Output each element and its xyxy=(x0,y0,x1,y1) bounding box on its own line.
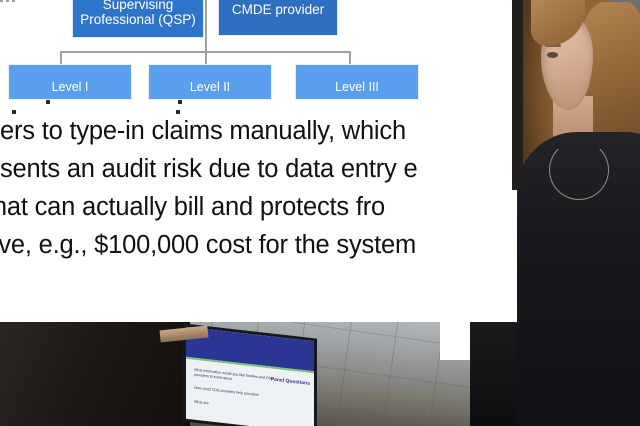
slide-text-line: esents an audit risk due to data entry e xyxy=(0,150,525,188)
org-node-qsp-line1: Supervising xyxy=(103,0,174,12)
org-node-level-2: Level II xyxy=(148,64,272,100)
presentation-slide: Supervising Professional (QSP) CMDE prov… xyxy=(0,0,525,322)
conference-room-video: Panel Questions What information would y… xyxy=(0,322,525,426)
bullet-crumb-icon xyxy=(178,100,182,104)
org-node-level-2-label: Level II xyxy=(190,80,230,94)
projected-slide-bullet: How could CDE providers help providers xyxy=(194,386,286,402)
org-node-level-3: Level III xyxy=(295,64,419,100)
connector-vertical-level-1 xyxy=(60,51,62,64)
connector-vertical-center xyxy=(205,0,207,64)
org-node-cmde-provider: CMDE provider xyxy=(218,0,338,36)
bullet-crumb-icon xyxy=(46,100,50,104)
org-chart-diagram: Supervising Professional (QSP) CMDE prov… xyxy=(0,0,525,108)
slide-text-line: tive, e.g., $100,000 cost for the system xyxy=(0,226,525,264)
connector-vertical-level-3 xyxy=(349,51,351,64)
speaker-video-overlay xyxy=(512,0,640,426)
slide-text-line: ders to type-in claims manually, which xyxy=(0,112,525,150)
slide-body-text: ders to type-in claims manually, which e… xyxy=(0,112,525,264)
org-node-level-3-label: Level III xyxy=(335,80,379,94)
org-node-qsp-line2: Professional (QSP) xyxy=(80,12,196,27)
org-node-qsp-label: Supervising Professional (QSP) xyxy=(80,0,196,27)
org-node-supervising-professional: Supervising Professional (QSP) xyxy=(72,0,204,38)
connector-horizontal-bus xyxy=(60,51,350,53)
projected-slide-bullet: What are xyxy=(194,400,286,416)
screen-capture: Supervising Professional (QSP) CMDE prov… xyxy=(0,0,640,426)
speaker-overlay-edge-bar xyxy=(512,0,523,190)
eye xyxy=(547,52,558,58)
org-node-level-1-label: Level I xyxy=(52,80,89,94)
necklace xyxy=(549,140,609,200)
speaker-portrait xyxy=(523,0,640,426)
projected-slide-screen: Panel Questions What information would y… xyxy=(186,327,314,426)
connector-dashed-horizontal xyxy=(0,0,16,2)
org-node-cmde-label: CMDE provider xyxy=(232,2,324,17)
projected-slide-bullet: What information would you like families… xyxy=(194,368,286,389)
room-bright-window xyxy=(440,322,470,360)
slide-text-line: that can actually bill and protects fro xyxy=(0,188,525,226)
org-node-level-1: Level I xyxy=(8,64,132,100)
